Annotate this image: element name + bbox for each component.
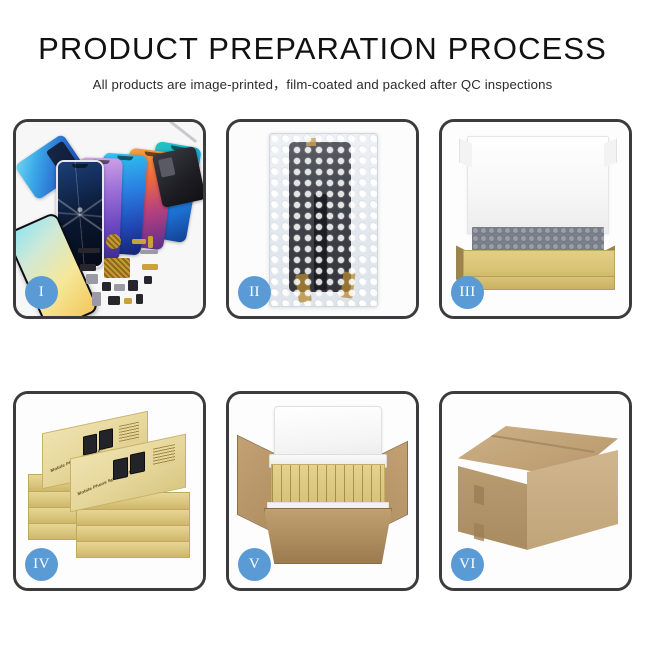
spare-parts-cluster [78, 234, 203, 316]
connector-b [340, 271, 355, 298]
step-badge-6: VI [451, 548, 484, 581]
bubble-wrap-bag [269, 133, 378, 307]
steps-grid: I II III [13, 119, 632, 591]
step-panel-3: III [439, 119, 632, 319]
step-badge-1: I [25, 276, 58, 309]
step-panel-4: Mobile Phone Spare Parts Mobile Phone Sp… [13, 391, 206, 591]
yellow-box-front [463, 276, 615, 290]
step-panel-2: II [226, 119, 419, 319]
step-panel-1: I [13, 119, 206, 319]
sealed-carton [458, 426, 618, 556]
box-lid [467, 136, 609, 234]
page-header: PRODUCT PREPARATION PROCESS All products… [0, 0, 645, 91]
page-title: PRODUCT PREPARATION PROCESS [0, 33, 645, 64]
carton-body [264, 508, 392, 564]
step-panel-5: V [226, 391, 419, 591]
step-panel-6: VI [439, 391, 632, 591]
step-badge-5: V [238, 548, 271, 581]
step-badge-4: IV [25, 548, 58, 581]
step-badge-2: II [238, 276, 271, 309]
carton-left-face [458, 466, 528, 550]
flex-cable [314, 194, 327, 290]
carton-tape-upper [474, 485, 484, 506]
carton-tape-lower [474, 523, 484, 542]
step-badge-3: III [451, 276, 484, 309]
page-subtitle: All products are image-printed，film-coat… [0, 78, 645, 91]
bag-tape [306, 138, 316, 146]
